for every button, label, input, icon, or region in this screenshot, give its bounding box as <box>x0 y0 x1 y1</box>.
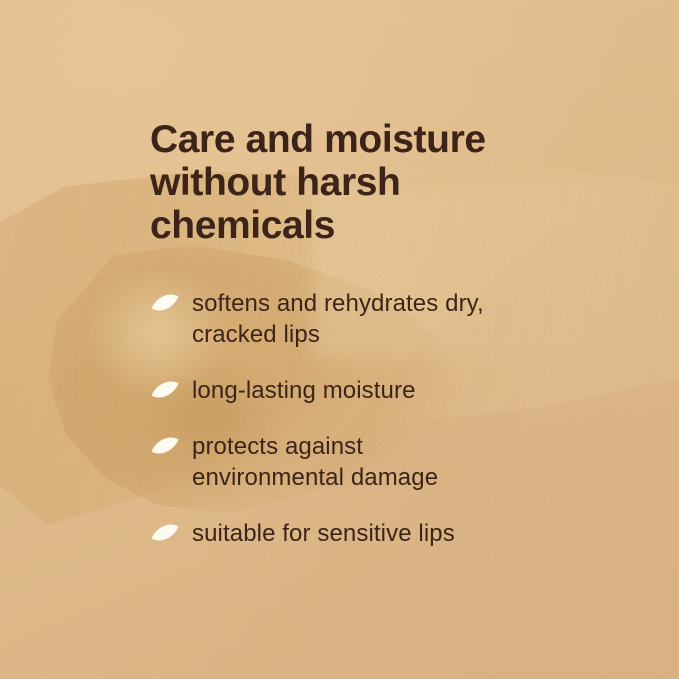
list-item: long-lasting moisture <box>150 375 570 406</box>
leaf-icon <box>150 435 180 457</box>
list-item-label: softens and rehydrates dry, cracked lips <box>192 288 570 350</box>
benefits-list: softens and rehydrates dry, cracked lips… <box>150 288 570 549</box>
list-item-label: protects against environmental damage <box>192 431 570 493</box>
list-item-label: suitable for sensitive lips <box>192 518 570 549</box>
list-item-label: long-lasting moisture <box>192 375 570 406</box>
card-content: Care and moisture without harsh chemical… <box>150 118 570 247</box>
list-item: softens and rehydrates dry, cracked lips <box>150 288 570 350</box>
list-item: suitable for sensitive lips <box>150 518 570 549</box>
list-item: protects against environmental damage <box>150 431 570 493</box>
leaf-icon <box>150 379 180 401</box>
leaf-icon <box>150 522 180 544</box>
product-benefits-card: Care and moisture without harsh chemical… <box>0 0 679 679</box>
page-title: Care and moisture without harsh chemical… <box>150 118 570 247</box>
leaf-icon <box>150 292 180 314</box>
